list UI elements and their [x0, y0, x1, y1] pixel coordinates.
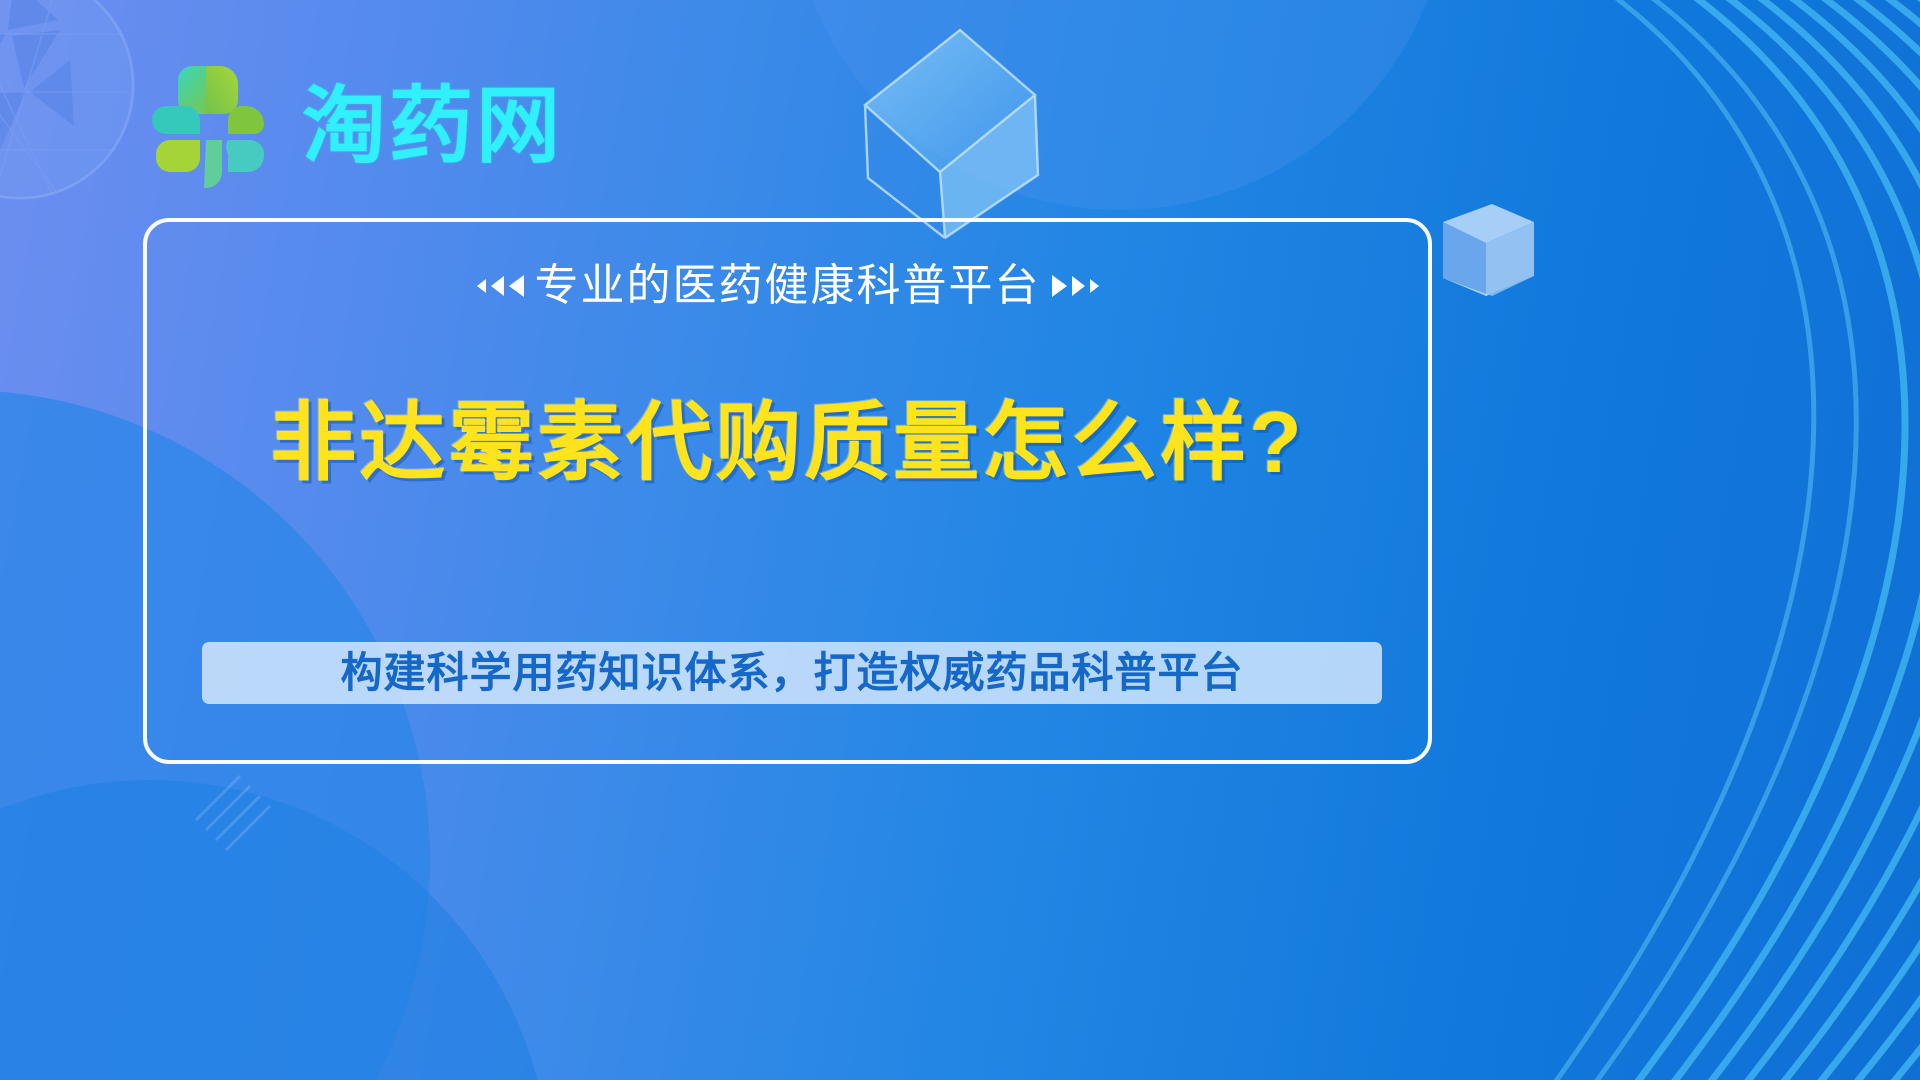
geodesic-sphere-pattern	[0, 0, 135, 210]
eyebrow-tagline: 专业的医药健康科普平台	[147, 264, 1428, 308]
brand-wordmark: 淘药网	[302, 84, 563, 168]
footer-slogan-banner: 构建科学用药知识体系，打造权威药品科普平台	[202, 642, 1382, 704]
concentric-wave-lines-inner	[1520, 0, 1856, 1080]
footer-slogan-text: 构建科学用药知识体系，打造权威药品科普平台	[340, 652, 1243, 694]
banner-stage: 淘药网 专业的医药健康科普平台 非达霉素代购质量怎么样? 构建科学用药知识体系，…	[0, 0, 1920, 1080]
content-card: 专业的医药健康科普平台 非达霉素代购质量怎么样? 构建科学用药知识体系，打造权威…	[143, 218, 1432, 764]
concentric-wave-lines	[1600, 0, 1920, 1080]
triangle-right-arrows-icon	[1052, 275, 1099, 297]
circle-blob-bottom-left-2	[0, 780, 550, 1080]
page-title: 非达霉素代购质量怎么样?	[147, 400, 1428, 486]
eyebrow-text: 专业的医药健康科普平台	[535, 264, 1041, 308]
solid-cube	[1443, 204, 1534, 296]
triangle-left-arrows-icon	[477, 275, 524, 297]
brand-logo[interactable]: 淘药网	[148, 62, 563, 190]
cross-leaf-medical-logo-icon	[148, 62, 280, 190]
